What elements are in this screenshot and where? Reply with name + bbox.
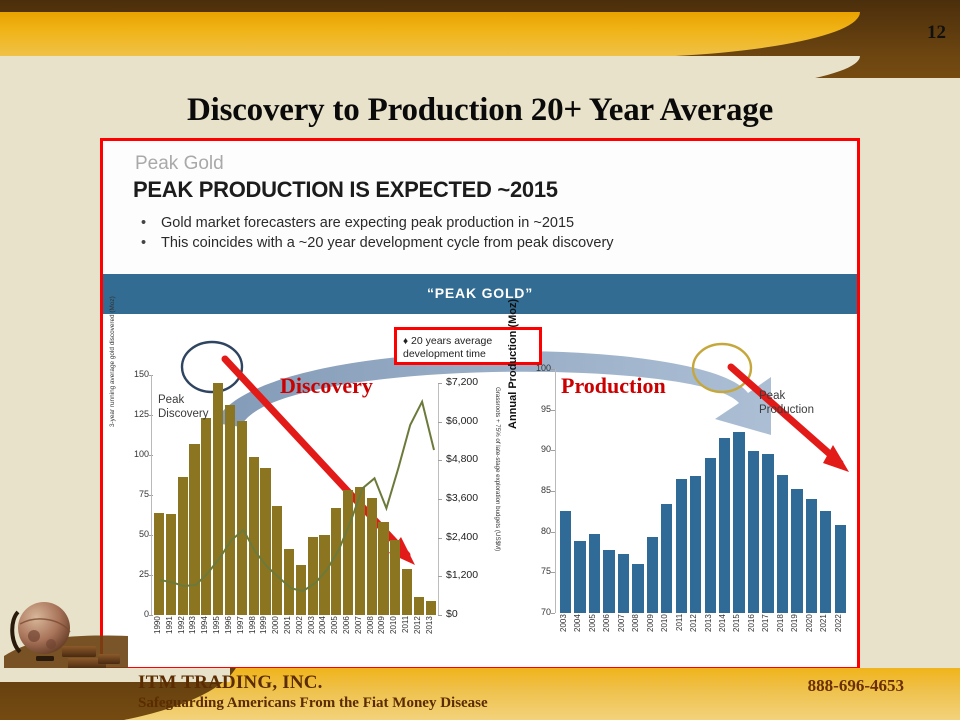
axis-tick-label: 1995 (212, 616, 222, 660)
axis-tick-label: 75 (123, 489, 149, 499)
axis-tick-label: 2011 (675, 614, 686, 656)
axis-tick-label: $1,200 (446, 569, 478, 581)
slide-heading: PEAK PRODUCTION IS EXPECTED ~2015 (133, 177, 558, 203)
axis-tick-label: $0 (446, 608, 458, 620)
axis-tick-label: 2017 (761, 614, 772, 656)
axis-tick-label: 1990 (153, 616, 163, 660)
axis-tick-label: 2014 (718, 614, 729, 656)
production-bar (618, 554, 629, 613)
production-bar (719, 438, 730, 613)
dev-note-line1: 20 years average (411, 335, 492, 347)
production-bar (806, 499, 817, 613)
axis-tick-label: 1994 (200, 616, 210, 660)
axis-tick-mark (438, 538, 442, 539)
page-title: Discovery to Production 20+ Year Average (0, 92, 960, 129)
axis-tick-label: $7,200 (446, 376, 478, 388)
axis-tick-label: 1998 (248, 616, 258, 660)
axis-tick-mark (438, 615, 442, 616)
axis-tick-label: 70 (525, 607, 551, 617)
axis-tick-label: 2016 (747, 614, 758, 656)
production-bar (733, 432, 744, 613)
production-bar (777, 475, 788, 613)
axis-tick-label: 2022 (834, 614, 845, 656)
axis-tick-label: 2004 (318, 616, 328, 660)
axis-tick-label: 2012 (413, 616, 423, 660)
production-bar (661, 504, 672, 613)
production-bar (835, 525, 846, 613)
slide-bullet-list: • Gold market forecasters are expecting … (137, 213, 837, 253)
bullet-dot-icon: • (141, 213, 146, 233)
axis-tick-mark (551, 613, 555, 614)
axis-tick-label: $3,600 (446, 492, 478, 504)
axis-tick-label: 80 (525, 526, 551, 536)
discovery-y-axis-label: 3-year running average gold discovered (… (109, 297, 116, 427)
budget-axis-label: Grassroots + 75% of late-stage explorati… (494, 387, 501, 607)
charts-region: ♦ 20 years average development time Disc… (103, 315, 857, 667)
production-bar (820, 511, 831, 613)
axis-tick-label: 2011 (401, 616, 411, 660)
axis-tick-label: 90 (525, 444, 551, 454)
discovery-chart: 3-year running average gold discovered (… (111, 375, 441, 660)
axis-tick-label: 150 (123, 369, 149, 379)
axis-tick-label: 2010 (660, 614, 671, 656)
axis-tick-label: 2008 (366, 616, 376, 660)
axis-tick-label: 1997 (236, 616, 246, 660)
production-chart: Annual Production (Moz) 707580859095100 … (511, 369, 851, 661)
brand-name: ITM TRADING, INC. (138, 672, 323, 694)
axis-tick-label: 2010 (389, 616, 399, 660)
axis-tick-label: 2003 (307, 616, 317, 660)
production-bar (762, 454, 773, 613)
axis-tick-label: 2015 (732, 614, 743, 656)
dev-note-line2: development time (403, 348, 486, 360)
diamond-bullet-icon: ♦ (403, 336, 408, 347)
axis-tick-label: 75 (525, 566, 551, 576)
discovery-x-axis-labels: 1990199119921993199419951996199719981999… (153, 616, 435, 660)
axis-tick-mark (438, 576, 442, 577)
production-bar (603, 550, 614, 613)
embedded-slide-image: Peak Gold PEAK PRODUCTION IS EXPECTED ~2… (100, 138, 860, 670)
axis-tick-label: $4,800 (446, 453, 478, 465)
axis-tick-mark (438, 422, 442, 423)
production-x-axis-labels: 2003200420052006200720082009201020112012… (559, 614, 845, 656)
peak-gold-band: “PEAK GOLD” (103, 274, 857, 314)
axis-tick-label: 2006 (342, 616, 352, 660)
production-bar (647, 537, 658, 613)
axis-tick-label: 2001 (283, 616, 293, 660)
slide-header: Peak Gold PEAK PRODUCTION IS EXPECTED ~2… (103, 141, 857, 273)
axis-tick-label: 100 (525, 363, 551, 373)
production-bar (589, 534, 600, 613)
bullet-text: This coincides with a ~20 year developme… (161, 235, 614, 251)
discovery-y-axis-ticks: 0255075100125150 (121, 375, 149, 615)
bullet-dot-icon: • (141, 233, 146, 253)
axis-tick-label: 125 (123, 409, 149, 419)
production-bar (705, 458, 716, 613)
axis-tick-label: 2000 (271, 616, 281, 660)
peak-discovery-annotation: Peak Discovery (158, 393, 208, 421)
axis-tick-label: 2020 (805, 614, 816, 656)
axis-tick-label: 2003 (559, 614, 570, 656)
axis-tick-label: 2005 (330, 616, 340, 660)
axis-tick-label: 1996 (224, 616, 234, 660)
axis-tick-label: 2008 (631, 614, 642, 656)
top-decor-banner (0, 0, 960, 88)
peak-production-annotation: Peak Production (759, 389, 814, 417)
axis-tick-mark (438, 499, 442, 500)
peak-discovery-line2: Discovery (158, 408, 208, 420)
axis-tick-label: 1991 (165, 616, 175, 660)
production-bar (560, 511, 571, 613)
axis-tick-label: 85 (525, 485, 551, 495)
peak-production-line1: Peak (759, 390, 785, 402)
phone-number: 888-696-4653 (808, 676, 904, 696)
production-bar (676, 479, 687, 613)
axis-tick-label: 2004 (573, 614, 584, 656)
axis-tick-label: 2021 (819, 614, 830, 656)
axis-tick-label: 2013 (704, 614, 715, 656)
production-bar (748, 451, 759, 613)
bottom-footer-banner: ITM TRADING, INC. Safeguarding Americans… (0, 668, 960, 720)
axis-tick-label: 1993 (188, 616, 198, 660)
peak-discovery-line1: Peak (158, 394, 184, 406)
axis-tick-label: $2,400 (446, 531, 478, 543)
peak-gold-band-label: “PEAK GOLD” (103, 285, 857, 301)
exploration-budget-axis: $0$1,200$2,400$3,600$4,800$6,000$7,200 G… (433, 375, 511, 660)
axis-tick-label: 50 (123, 529, 149, 539)
axis-tick-label: $6,000 (446, 415, 478, 427)
axis-tick-label: 2005 (588, 614, 599, 656)
axis-tick-label: 1999 (259, 616, 269, 660)
development-time-callout: ♦ 20 years average development time (394, 327, 542, 365)
axis-tick-label: 2019 (790, 614, 801, 656)
axis-tick-label: 2007 (617, 614, 628, 656)
banner-gold-layer (0, 12, 860, 58)
brand-tagline: Safeguarding Americans From the Fiat Mon… (138, 695, 488, 712)
axis-tick-label: 2007 (354, 616, 364, 660)
production-bar (690, 476, 701, 613)
axis-tick-label: 95 (525, 404, 551, 414)
production-bar (632, 564, 643, 613)
axis-tick-mark (438, 383, 442, 384)
production-bar (791, 489, 802, 613)
axis-tick-label: 2009 (646, 614, 657, 656)
banner-cream-base (0, 78, 960, 88)
list-item: • This coincides with a ~20 year develop… (137, 233, 837, 253)
list-item: • Gold market forecasters are expecting … (137, 213, 837, 233)
axis-tick-label: 2018 (776, 614, 787, 656)
bullet-text: Gold market forecasters are expecting pe… (161, 215, 574, 231)
axis-tick-label: 25 (123, 569, 149, 579)
axis-tick-label: 2002 (295, 616, 305, 660)
axis-tick-label: 2012 (689, 614, 700, 656)
slide-number: 12 (927, 22, 946, 44)
production-y-axis-label: Annual Production (Moz) (507, 289, 519, 429)
axis-tick-label: 100 (123, 449, 149, 459)
axis-tick-mark (438, 460, 442, 461)
slide-eyebrow: Peak Gold (135, 153, 224, 175)
peak-production-line2: Production (759, 404, 814, 416)
production-bar (574, 541, 585, 613)
axis-tick-label: 1992 (177, 616, 187, 660)
budget-trend-line (160, 402, 434, 591)
axis-tick-label: 2006 (602, 614, 613, 656)
production-y-axis-ticks: 707580859095100 (523, 369, 551, 613)
axis-tick-label: 2009 (377, 616, 387, 660)
